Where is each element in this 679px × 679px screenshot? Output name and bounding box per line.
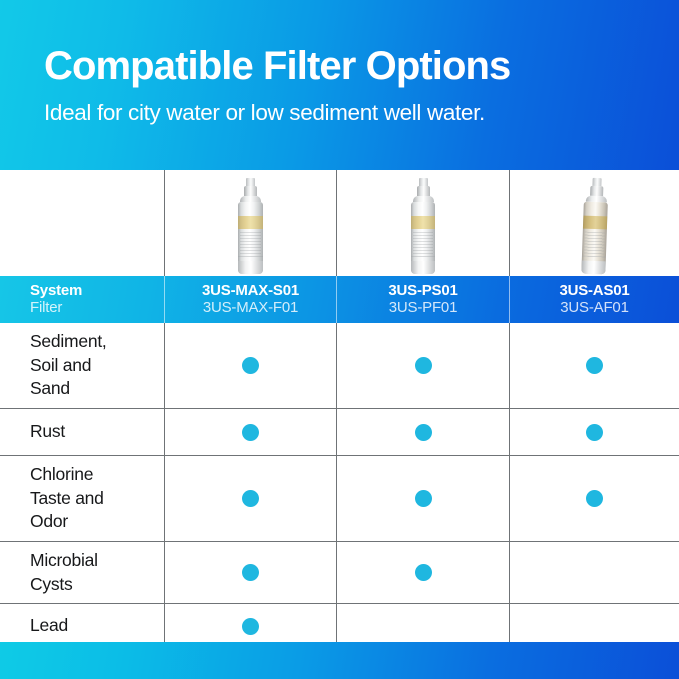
product-2-filter-model: 3US-PF01 [389, 300, 457, 317]
water-filter-icon [238, 178, 263, 274]
product-1-filter-model: 3US-MAX-F01 [203, 300, 298, 317]
filter-text-block-icon [413, 232, 433, 254]
infographic-page: Compatible Filter Options Ideal for city… [0, 0, 679, 679]
header-cell-product-1: 3US-MAX-S01 3US-MAX-F01 [165, 276, 337, 323]
compat-cell [510, 323, 679, 408]
compatible-dot-icon [242, 490, 259, 507]
filter-ribs-icon [238, 256, 263, 260]
compat-cell [165, 456, 337, 541]
compatible-dot-icon [415, 424, 432, 441]
compatible-dot-icon [586, 357, 603, 374]
product-3-system-model: 3US-AS01 [559, 283, 629, 300]
filter-foot-icon [238, 261, 263, 274]
compatible-dot-icon [586, 490, 603, 507]
filter-body-icon [411, 202, 435, 274]
filter-label-band-icon [411, 216, 435, 229]
product-2-system-model: 3US-PS01 [388, 283, 457, 300]
header-system-label: System [30, 283, 82, 300]
compat-cell [165, 409, 337, 455]
compat-cell [165, 542, 337, 603]
compat-cell [510, 409, 679, 455]
filter-cap-icon [419, 178, 428, 186]
product-1-system-model: 3US-MAX-S01 [202, 283, 299, 300]
filter-body-icon [238, 202, 263, 274]
filter-label-band-icon [582, 216, 606, 230]
filter-label-band-icon [238, 216, 263, 229]
contaminant-label: Lead [0, 614, 68, 638]
incompatible-blank-icon [586, 618, 603, 635]
table-row: Rust [0, 409, 679, 456]
page-subtitle: Ideal for city water or low sediment wel… [44, 101, 649, 126]
filter-text-block-icon [240, 232, 261, 254]
contaminant-label: Sediment, Soil and Sand [0, 330, 107, 401]
compatible-dot-icon [242, 618, 259, 635]
product-image-cell-2 [337, 170, 510, 276]
filter-neck-icon [589, 186, 602, 196]
compat-cell [337, 409, 510, 455]
contaminant-label: Microbial Cysts [0, 549, 98, 596]
water-filter-icon [581, 178, 608, 275]
header-cell-product-3: 3US-AS01 3US-AF01 [510, 276, 679, 323]
header-cell-product-2: 3US-PS01 3US-PF01 [337, 276, 510, 323]
filter-foot-icon [581, 261, 605, 275]
compatible-dot-icon [586, 424, 603, 441]
compat-cell [337, 456, 510, 541]
contaminant-label: Rust [0, 420, 65, 444]
table-row: Chlorine Taste and Odor [0, 456, 679, 542]
compatibility-table: System Filter 3US-MAX-S01 3US-MAX-F01 3U… [0, 170, 679, 642]
footer-gradient-bar [0, 642, 679, 679]
page-title: Compatible Filter Options [44, 45, 649, 87]
compat-cell [510, 542, 679, 603]
water-filter-icon [411, 178, 435, 274]
header-filter-label: Filter [30, 300, 62, 317]
product-image-row [0, 170, 679, 276]
compat-cell [510, 456, 679, 541]
filter-neck-icon [244, 186, 257, 196]
compatible-dot-icon [415, 564, 432, 581]
table-row: Sediment, Soil and Sand [0, 323, 679, 409]
compat-cell [165, 323, 337, 408]
incompatible-blank-icon [586, 564, 603, 581]
filter-cap-icon [246, 178, 255, 186]
compatible-dot-icon [242, 424, 259, 441]
compat-cell [337, 323, 510, 408]
row-label-cell: Microbial Cysts [0, 542, 165, 603]
compatible-dot-icon [242, 564, 259, 581]
table-row: Microbial Cysts [0, 542, 679, 604]
table-header-row: System Filter 3US-MAX-S01 3US-MAX-F01 3U… [0, 276, 679, 323]
filter-neck-icon [417, 186, 430, 196]
row-label-cell: Chlorine Taste and Odor [0, 456, 165, 541]
product-image-cell-3 [510, 170, 679, 276]
filter-text-block-icon [584, 232, 605, 255]
compatible-dot-icon [242, 357, 259, 374]
contaminant-label: Chlorine Taste and Odor [0, 463, 104, 534]
filter-body-icon [581, 202, 607, 275]
compatible-dot-icon [415, 490, 432, 507]
header-banner: Compatible Filter Options Ideal for city… [0, 0, 679, 170]
compat-cell [337, 542, 510, 603]
filter-ribs-icon [411, 256, 435, 260]
incompatible-blank-icon [415, 618, 432, 635]
product-3-filter-model: 3US-AF01 [560, 300, 628, 317]
row-label-cell: Sediment, Soil and Sand [0, 323, 165, 408]
filter-foot-icon [411, 261, 435, 274]
row-label-cell: Rust [0, 409, 165, 455]
compatible-dot-icon [415, 357, 432, 374]
header-cell-labels: System Filter [0, 276, 165, 323]
image-row-spacer [0, 170, 165, 276]
product-image-cell-1 [165, 170, 337, 276]
